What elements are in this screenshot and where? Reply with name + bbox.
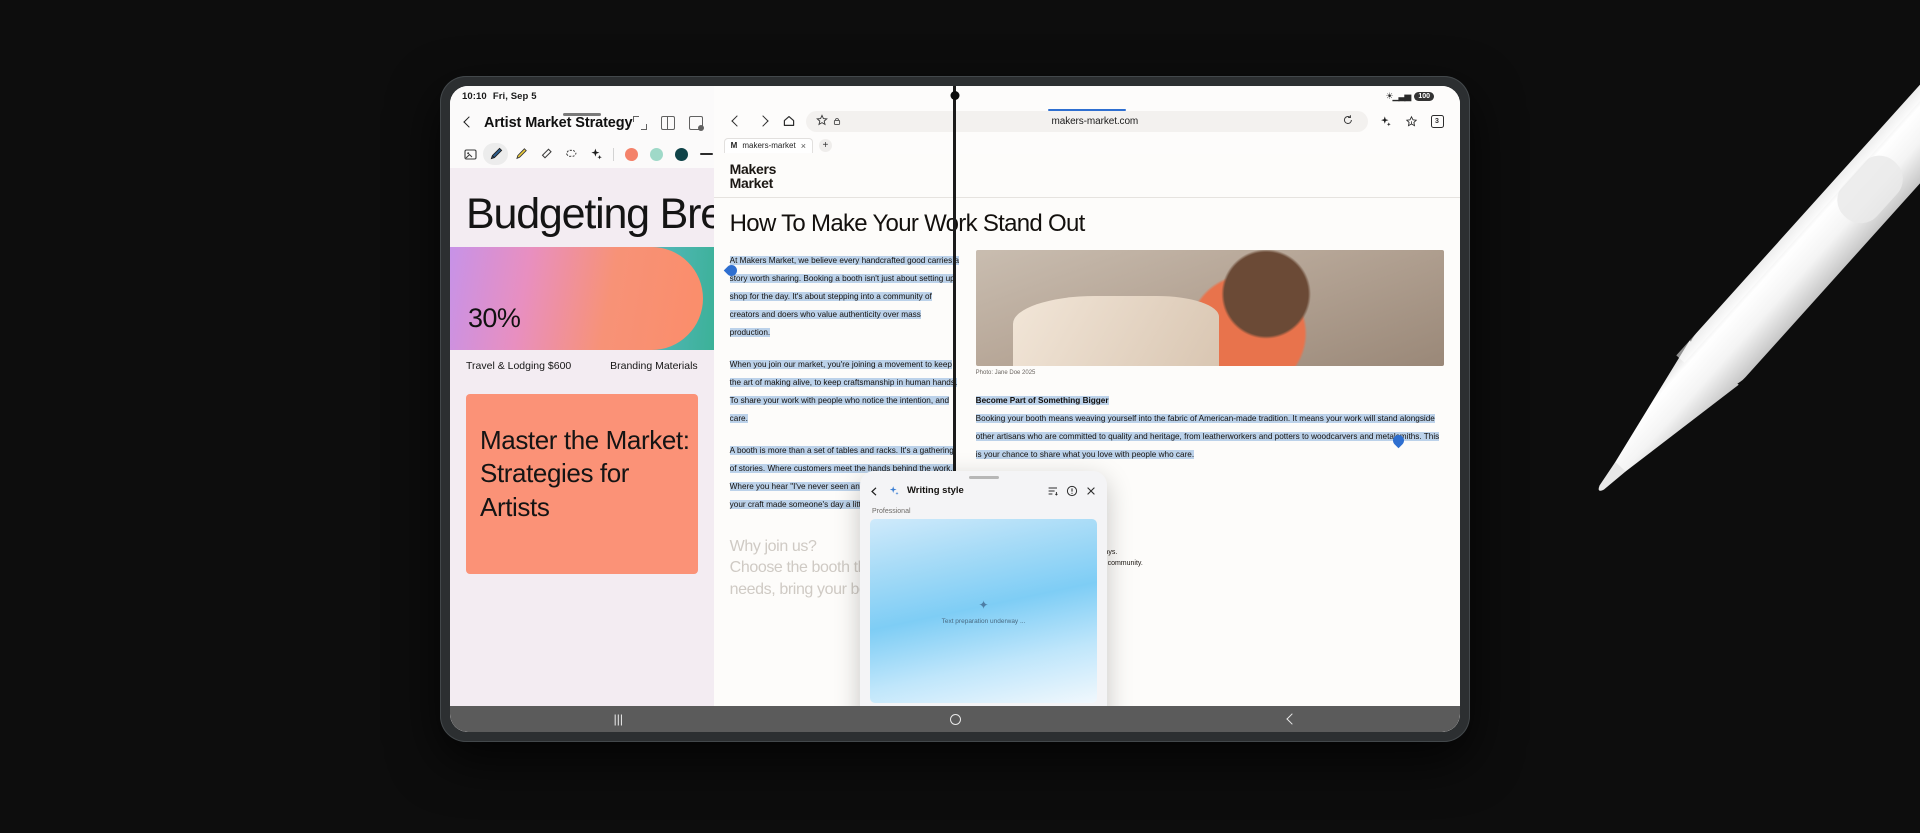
budget-bar-chart: 30% 15% 10 (450, 247, 714, 350)
refresh-icon[interactable] (1342, 113, 1358, 129)
notes-status-bar: 10:10 Fri, Sep 5 (450, 86, 714, 106)
paragraph-4-heading: Become Part of Something Bigger (976, 396, 1109, 405)
note-icon[interactable] (689, 116, 703, 130)
browser-toolbar: makers-market.com 3 (714, 106, 1460, 136)
tab-favicon: M (731, 141, 738, 150)
note-heading: Budgeting Breakdown (450, 168, 714, 239)
browser-tab[interactable]: M makers-market × (724, 138, 813, 153)
ai-sparkle-icon[interactable] (1372, 110, 1398, 132)
generation-status: Text preparation underway ... (942, 618, 1026, 625)
status-time: 10:10 (462, 91, 487, 102)
panel-grab-handle[interactable] (969, 476, 999, 479)
star-icon[interactable] (816, 113, 832, 129)
notes-header-icons (633, 116, 714, 130)
pen-icon[interactable] (483, 143, 508, 165)
bar-value-1: 30% (468, 303, 520, 334)
writing-panel-title: Writing style (907, 485, 964, 496)
close-icon[interactable]: × (801, 141, 806, 151)
writing-style-label: Professional (860, 505, 1107, 519)
notes-header: Artist Market Strategy (450, 106, 714, 140)
window-grab-handle[interactable] (563, 113, 601, 116)
lock-icon (832, 113, 848, 129)
paragraph-4-text: Booking your booth means weaving yoursel… (976, 414, 1440, 459)
ai-sparkle-icon[interactable] (583, 143, 608, 165)
eraser-icon[interactable] (533, 143, 558, 165)
ai-sparkle-icon: ✦ (978, 598, 988, 612)
paragraph-4[interactable]: Become Part of Something Bigger Booking … (976, 390, 1444, 462)
browser-status-bar: ☀▁▃▅ 100 (714, 86, 1460, 106)
status-date: Fri, Sep 5 (493, 91, 537, 102)
legend-item-travel: Travel & Lodging $600 (466, 360, 571, 372)
legend-item-branding: Branding Materials (610, 360, 698, 372)
line-weight-icon[interactable] (694, 143, 714, 165)
recents-button[interactable]: ||| (614, 712, 623, 726)
highlight-card: Master the Market: Strategies for Artist… (466, 394, 698, 574)
tablet-device-frame: 10:10 Fri, Sep 5 Artist Market Strategy (440, 76, 1470, 742)
back-icon[interactable] (460, 115, 476, 131)
logo-line-2: Market (730, 176, 1460, 190)
notes-app-pane: 10:10 Fri, Sep 5 Artist Market Strategy (450, 86, 714, 732)
highlighter-icon[interactable] (508, 143, 533, 165)
browser-tab-strip: M makers-market × + (714, 136, 1460, 154)
paragraph-2-text: When you join our market, you're joining… (730, 360, 958, 423)
new-tab-button[interactable]: + (819, 139, 832, 152)
writing-panel-header: Writing style (860, 475, 1107, 505)
battery-indicator: 100 (1414, 92, 1434, 101)
paragraph-1[interactable]: At Makers Market, we believe every handc… (730, 250, 962, 340)
forward-icon[interactable] (750, 110, 776, 132)
address-bar[interactable]: makers-market.com (806, 111, 1368, 132)
pen-toolbar (450, 140, 714, 168)
home-button[interactable] (950, 714, 961, 725)
logo-line-1: Makers (730, 162, 1460, 176)
android-nav-bar: ||| (450, 706, 1460, 732)
toolbar-divider (613, 148, 614, 161)
stylus-pen (1505, 41, 1920, 661)
close-icon[interactable] (1085, 484, 1098, 497)
select-icon[interactable] (458, 143, 483, 165)
card-line-1: Master the Market: (480, 424, 698, 457)
color-swatch-mint[interactable] (644, 143, 669, 165)
chart-legend: Travel & Lodging $600 Branding Materials (450, 350, 714, 380)
page-load-progress (1048, 109, 1126, 112)
paragraph-1-text: At Makers Market, we believe every handc… (730, 256, 959, 337)
fullscreen-icon[interactable] (633, 116, 647, 130)
bar-segment-travel: 30% (450, 247, 703, 350)
card-line-2: Strategies for Artists (480, 457, 698, 524)
url-text: makers-market.com (848, 116, 1342, 127)
writing-preview-canvas: ✦ Text preparation underway ... (870, 519, 1097, 703)
article-heading: How To Make Your Work Stand Out (714, 198, 1460, 238)
tablet-screen: 10:10 Fri, Sep 5 Artist Market Strategy (450, 86, 1460, 732)
writing-style-panel[interactable]: Writing style Professional ✦ Text prep (860, 471, 1107, 731)
page-title: Artist Market Strategy (484, 115, 633, 131)
tab-count-button[interactable]: 3 (1424, 110, 1450, 132)
screenshot-stage: 10:10 Fri, Sep 5 Artist Market Strategy (0, 0, 1920, 833)
color-swatch-teal[interactable] (669, 143, 694, 165)
back-icon[interactable] (869, 484, 882, 497)
back-icon[interactable] (724, 110, 750, 132)
home-icon[interactable] (776, 110, 802, 132)
tab-label: makers-market (742, 141, 795, 150)
photo-caption: Photo: Jane Doe 2025 (976, 370, 1444, 376)
split-view-icon[interactable] (661, 116, 675, 130)
tab-count-label: 3 (1431, 115, 1444, 128)
lasso-icon[interactable] (558, 143, 583, 165)
wifi-icon: ☀▁▃▅ (1385, 91, 1410, 102)
ai-sparkle-icon (888, 484, 901, 497)
site-logo: Makers Market (714, 154, 1460, 197)
front-camera (951, 91, 960, 100)
tone-list-icon[interactable] (1047, 484, 1060, 497)
bookmark-icon[interactable] (1398, 110, 1424, 132)
back-button[interactable] (1287, 713, 1298, 724)
note-canvas[interactable]: Budgeting Breakdown 30% 15% 10 Tr (450, 168, 714, 732)
article-photo (976, 250, 1444, 366)
info-icon[interactable] (1066, 484, 1079, 497)
paragraph-2[interactable]: When you join our market, you're joining… (730, 354, 962, 426)
color-swatch-coral[interactable] (619, 143, 644, 165)
